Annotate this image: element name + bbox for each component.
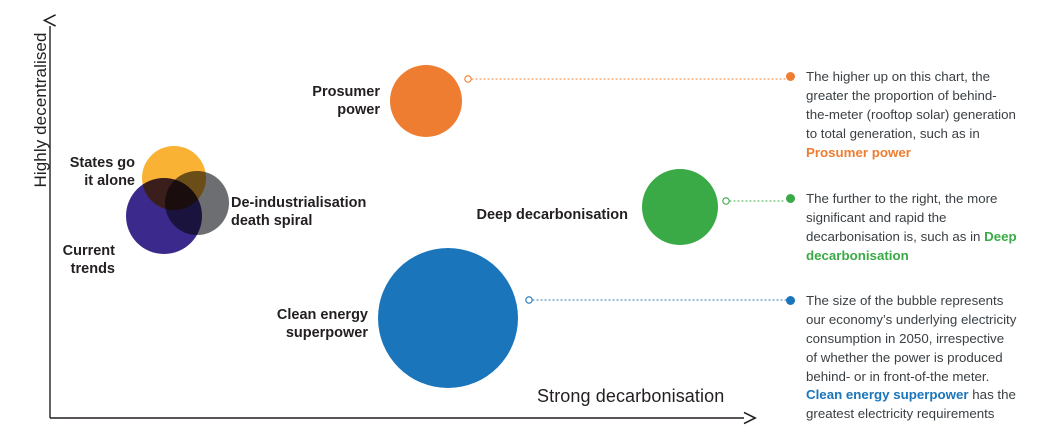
leader-prosumer-power: [465, 76, 786, 82]
bubble-deep-decarbonisation[interactable]: [642, 169, 718, 245]
bubble-prosumer-power[interactable]: [390, 65, 462, 137]
legend-dot-green: [786, 194, 795, 203]
legend-highlight-clean-energy-superpower: Clean energy superpower: [806, 387, 969, 402]
legend-dot-blue: [786, 296, 795, 305]
legend-text-prosumer-power: The higher up on this chart, the greater…: [806, 68, 1018, 162]
legend-text-clean-energy-superpower: The size of the bubble represents our ec…: [806, 292, 1018, 424]
bubble-current-trends[interactable]: [126, 178, 202, 254]
legend-dot-orange: [786, 72, 795, 81]
legend-body-text: The further to the right, the more signi…: [806, 191, 997, 244]
legend-text-deep-decarbonisation: The further to the right, the more signi…: [806, 190, 1018, 266]
bubble-label-clean-energy-superpower: Clean energy superpower: [188, 306, 368, 343]
legend-body-text: The size of the bubble represents our ec…: [806, 293, 1016, 384]
legend-item-prosumer-power[interactable]: The higher up on this chart, the greater…: [786, 68, 1018, 162]
leader-deep-decarbonisation: [723, 198, 786, 204]
bubble-clean-energy-superpower[interactable]: [378, 248, 518, 388]
x-axis-title: Strong decarbonisation: [537, 386, 724, 407]
legend-item-clean-energy-superpower[interactable]: The size of the bubble represents our ec…: [786, 292, 1018, 424]
bubble-label-prosumer-power: Prosumer power: [200, 83, 380, 120]
y-axis-title: Highly decentralised: [31, 0, 51, 230]
bubble-label-states-go-it-alone: States go it alone: [0, 154, 135, 191]
bubble-label-deep-decarbonisation: Deep decarbonisation: [400, 206, 628, 224]
legend-item-deep-decarbonisation[interactable]: The further to the right, the more signi…: [786, 190, 1018, 266]
legend-body-text: The higher up on this chart, the greater…: [806, 69, 1016, 141]
bubble-label-current-trends: Current trends: [0, 242, 115, 279]
leader-clean-energy-superpower: [526, 297, 786, 303]
bubble-chart-figure: Highly decentralised Strong decarbonisat…: [0, 0, 1037, 442]
legend-highlight-prosumer-power: Prosumer power: [806, 145, 911, 160]
